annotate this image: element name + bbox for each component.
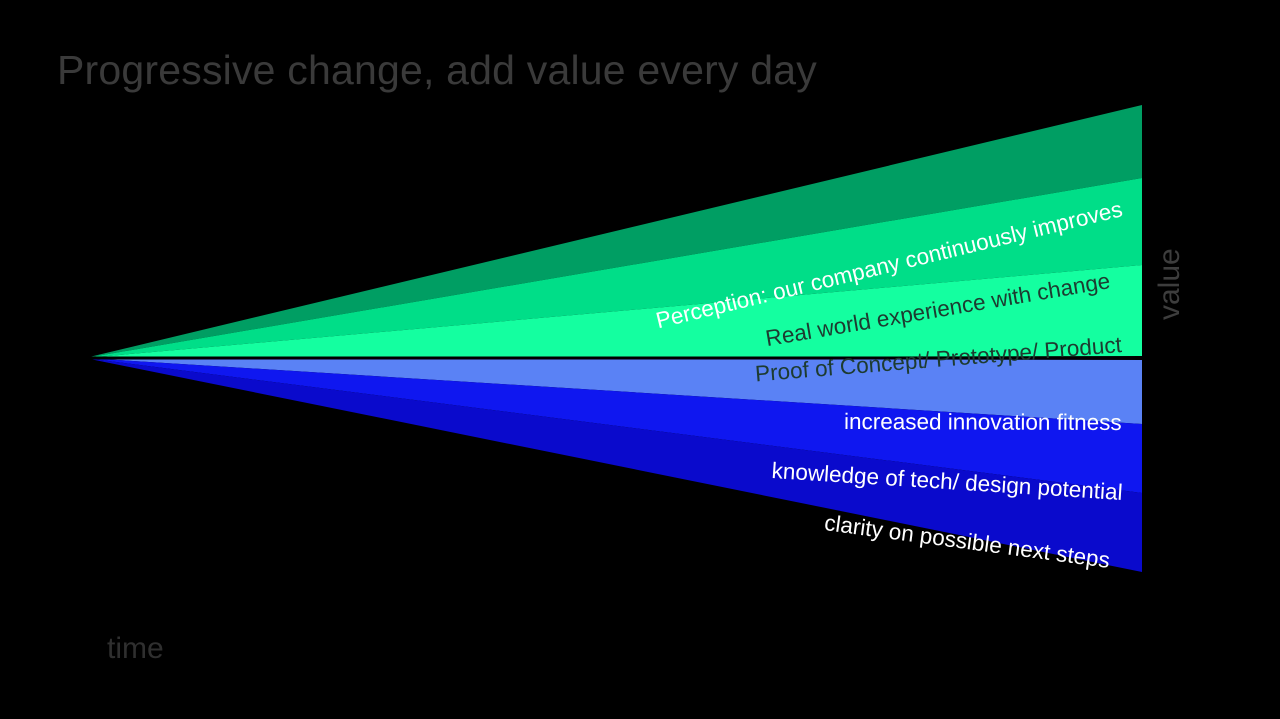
slide-canvas: Progressive change, add value every day … (0, 0, 1280, 719)
axis-label-value: value (1153, 248, 1187, 320)
band-label-4: increased innovation fitness (844, 409, 1122, 436)
axis-label-time: time (107, 632, 164, 666)
